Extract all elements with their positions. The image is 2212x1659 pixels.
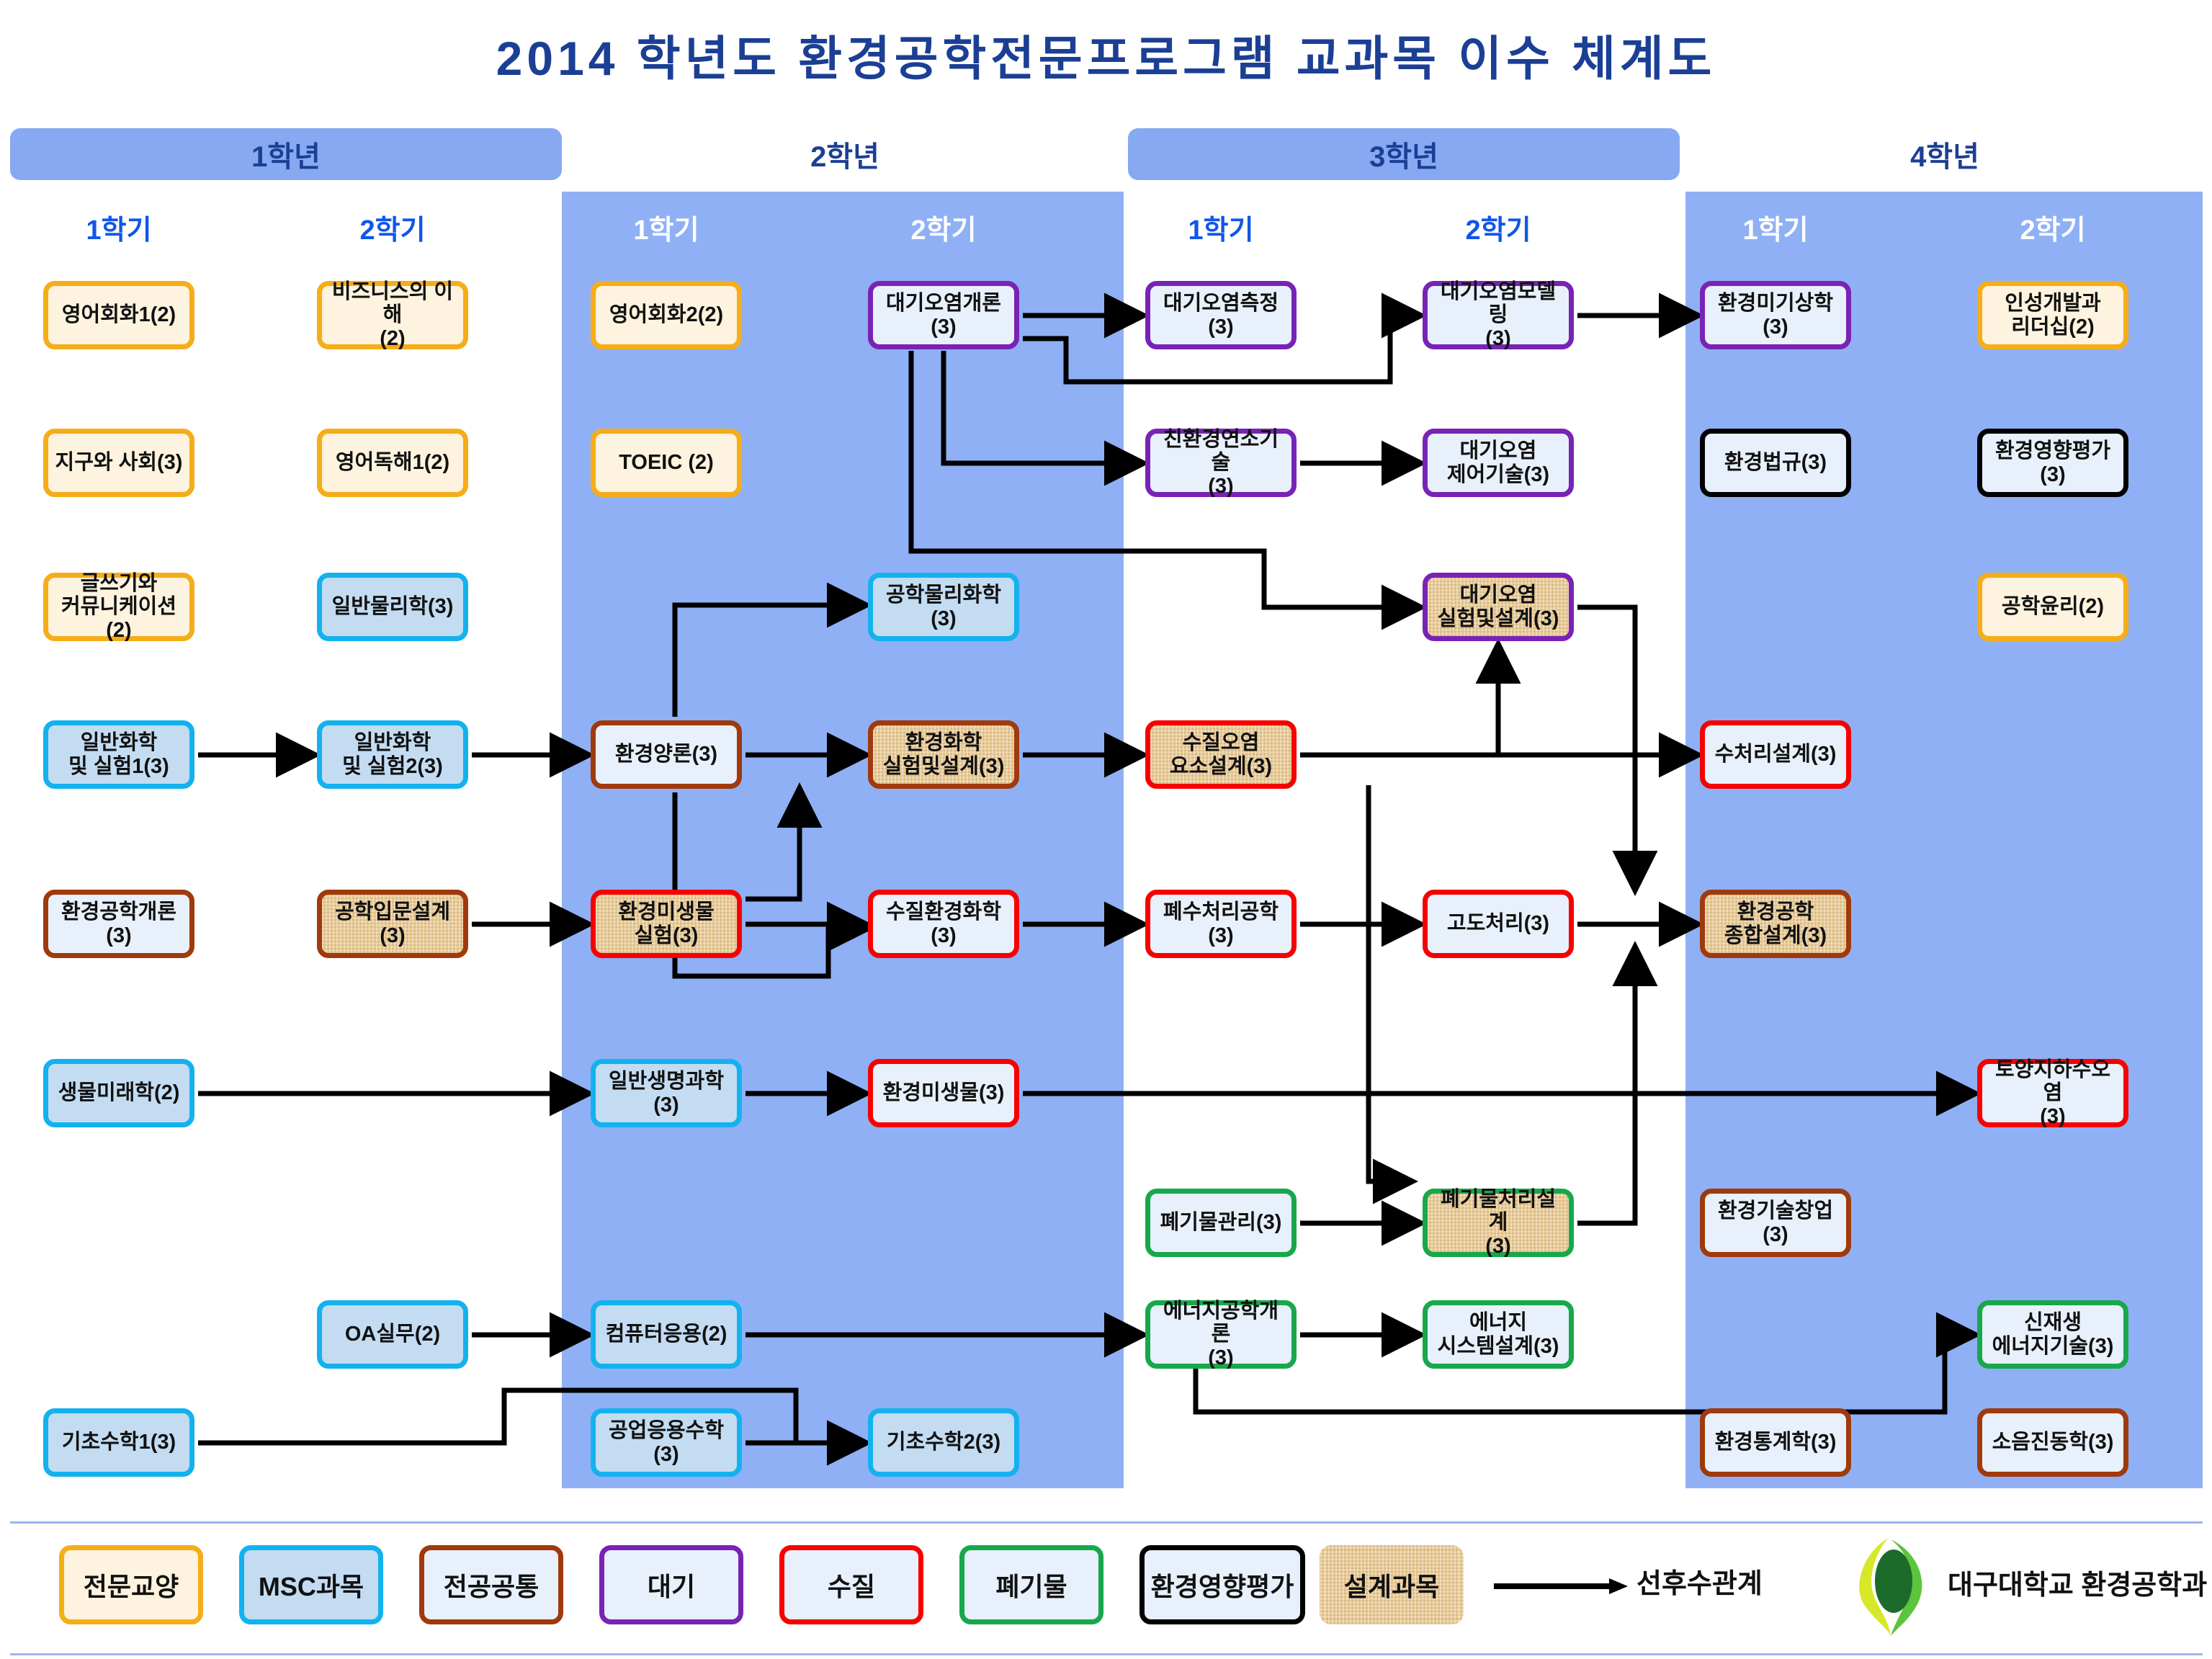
course-box-c33[interactable]: 대기오염모델링 (3) [1423,281,1574,349]
course-box-c8[interactable]: 비즈니스의 이해 (2) [317,281,468,349]
course-box-c18[interactable]: 일반생명과학(3) [591,1059,742,1127]
course-box-c19[interactable]: 컴퓨터응용(2) [591,1300,742,1369]
course-box-c41[interactable]: 수처리설계(3) [1700,720,1851,789]
legend-item-gyoyang: 전문교양 [59,1545,203,1624]
course-box-c39[interactable]: 환경미기상학(3) [1700,281,1851,349]
year-band-3: 3학년 [1128,128,1680,180]
course-box-c28[interactable]: 친환경연소기술 (3) [1145,429,1297,497]
course-box-c20[interactable]: 공업응용수학(3) [591,1408,742,1477]
course-box-c32[interactable]: 에너지공학개론 (3) [1145,1300,1297,1369]
course-box-c4[interactable]: 일반화학 및 실험1(3) [43,720,194,789]
legend-item-air: 대기 [599,1545,743,1624]
year4-panel [1685,192,2203,1488]
course-box-c47[interactable]: 공학윤리(2) [1977,573,2128,641]
legend-bar: 전문교양MSC과목전공공통대기수질폐기물환경영향평가설계과목 선후수관계 대구대… [10,1521,2203,1655]
legend-arrow-label: 선후수관계 [1636,1561,1763,1601]
semester-label-6: 2학기 [1405,207,1592,247]
course-box-c10[interactable]: 일반물리학(3) [317,573,468,641]
year-band-2: 2학년 [569,128,1121,180]
course-box-c16[interactable]: 환경양론(3) [591,720,742,789]
course-box-c2[interactable]: 지구와 사회(3) [43,429,194,497]
course-box-c43[interactable]: 환경기술창업(3) [1700,1189,1851,1257]
course-box-c25[interactable]: 환경미생물(3) [868,1059,1019,1127]
course-box-c1[interactable]: 영어회화1(2) [43,281,194,349]
course-box-c49[interactable]: 신재생 에너지기술(3) [1977,1300,2128,1369]
course-box-c11[interactable]: 일반화학 및 실험2(3) [317,720,468,789]
legend-item-waste: 폐기물 [959,1545,1103,1624]
course-box-c40[interactable]: 환경법규(3) [1700,429,1851,497]
course-box-c13[interactable]: OA실무(2) [317,1300,468,1369]
course-box-c5[interactable]: 환경공학개론(3) [43,890,194,958]
course-box-c50[interactable]: 소음진동학(3) [1977,1408,2128,1477]
legend-logo-text: 대구대학교 환경공학과 [1948,1562,2207,1602]
legend-item-design: 설계과목 [1320,1545,1464,1624]
course-box-c17[interactable]: 환경미생물 실험(3) [591,890,742,958]
course-box-c7[interactable]: 기초수학1(3) [43,1408,194,1477]
course-box-c6[interactable]: 생물미래학(2) [43,1059,194,1127]
course-box-c45[interactable]: 인성개발과 리더십(2) [1977,281,2128,349]
semester-label-7: 1학기 [1682,207,1869,247]
course-box-c14[interactable]: 영어회화2(2) [591,281,742,349]
course-box-c36[interactable]: 고도처리(3) [1423,890,1574,958]
course-box-c31[interactable]: 폐기물관리(3) [1145,1189,1297,1257]
semester-label-2: 2학기 [299,207,486,247]
year-band-4: 4학년 [1687,128,2203,180]
course-box-c24[interactable]: 수질환경화학(3) [868,890,1019,958]
course-box-c27[interactable]: 대기오염측정(3) [1145,281,1297,349]
course-box-c42[interactable]: 환경공학 종합설계(3) [1700,890,1851,958]
course-box-c37[interactable]: 폐기물처리설계 (3) [1423,1189,1574,1257]
course-box-c26[interactable]: 기초수학2(3) [868,1408,1019,1477]
course-box-c35[interactable]: 대기오염 실험및설계(3) [1423,573,1574,641]
year2-panel [562,192,1124,1488]
semester-label-8: 2학기 [1959,207,2146,247]
semester-label-3: 1학기 [573,207,760,247]
course-box-c21[interactable]: 대기오염개론(3) [868,281,1019,349]
course-box-c12[interactable]: 공학입문설계(3) [317,890,468,958]
course-box-c38[interactable]: 에너지 시스템설계(3) [1423,1300,1574,1369]
legend-item-water: 수질 [779,1545,923,1624]
legend-item-eia: 환경영향평가 [1139,1545,1305,1624]
page-title: 2014 학년도 환경공학전문프로그램 교과목 이수 체계도 [0,20,2212,89]
semester-label-5: 1학기 [1127,207,1315,247]
semester-label-1: 1학기 [25,207,212,247]
course-box-c15[interactable]: TOEIC (2) [591,429,742,497]
course-box-c44[interactable]: 환경통계학(3) [1700,1408,1851,1477]
university-logo-icon [1843,1537,1937,1637]
legend-arrow-icon [1494,1575,1631,1597]
course-box-c46[interactable]: 환경영향평가(3) [1977,429,2128,497]
legend-item-msc: MSC과목 [239,1545,383,1624]
legend-item-common: 전공공통 [419,1545,563,1624]
course-box-c22[interactable]: 공학물리화학(3) [868,573,1019,641]
course-box-c9[interactable]: 영어독해1(2) [317,429,468,497]
course-box-c3[interactable]: 글쓰기와 커뮤니케이션(2) [43,573,194,641]
course-box-c34[interactable]: 대기오염 제어기술(3) [1423,429,1574,497]
year-band-1: 1학년 [10,128,562,180]
course-box-c23[interactable]: 환경화학 실험및설계(3) [868,720,1019,789]
course-box-c29[interactable]: 수질오염 요소설계(3) [1145,720,1297,789]
semester-label-4: 2학기 [850,207,1037,247]
course-box-c48[interactable]: 토양지하수오염 (3) [1977,1059,2128,1127]
course-box-c30[interactable]: 폐수처리공학(3) [1145,890,1297,958]
